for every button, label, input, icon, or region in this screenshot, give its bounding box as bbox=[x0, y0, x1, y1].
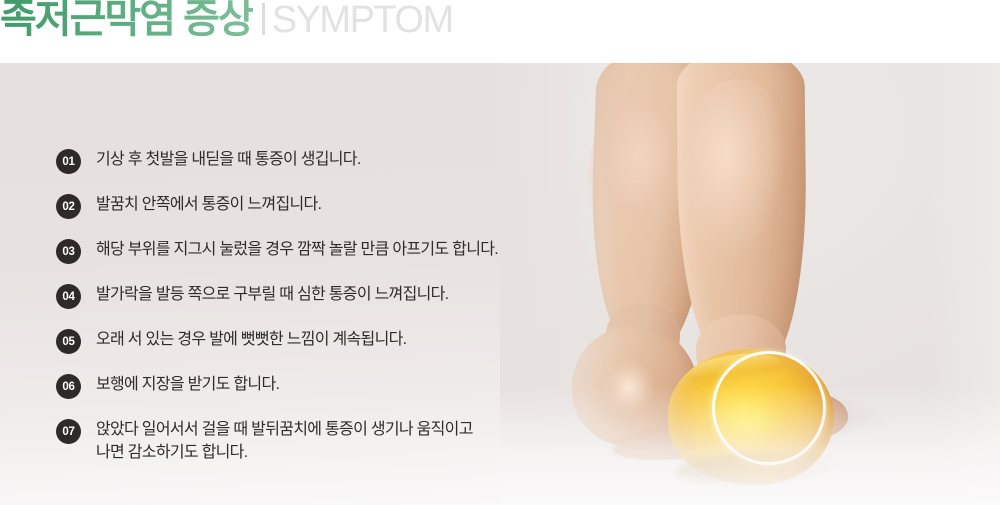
front-calf-highlight bbox=[676, 79, 800, 291]
header-title-group: 족저근막염 증상 SYMPTOM bbox=[0, 0, 453, 41]
list-item-number-badge: 05 bbox=[56, 329, 81, 354]
list-item-number-badge: 07 bbox=[56, 419, 81, 444]
title-separator-icon bbox=[262, 3, 265, 35]
list-item-text: 기상 후 첫발을 내딛을 때 통증이 생깁니다. bbox=[96, 148, 361, 171]
list-item: 01 기상 후 첫발을 내딛을 때 통증이 생깁니다. bbox=[56, 148, 556, 174]
list-item-text: 발가락을 발등 쪽으로 구부릴 때 심한 통증이 느껴집니다. bbox=[96, 283, 448, 306]
list-item: 06 보행에 지장을 받기도 합니다. bbox=[56, 373, 556, 399]
list-item-text: 오래 서 있는 경우 발에 뻣뻣한 느낌이 계속됩니다. bbox=[96, 328, 406, 351]
list-item-text: 해당 부위를 지그시 눌렀을 경우 깜짝 놀랄 만큼 아프기도 합니다. bbox=[96, 238, 498, 261]
list-item-number-badge: 06 bbox=[56, 374, 81, 399]
list-item: 07 앉았다 일어서서 걸을 때 발뒤꿈치에 통증이 생기나 움직이고 나면 감… bbox=[56, 418, 556, 464]
list-item-number-badge: 04 bbox=[56, 284, 81, 309]
list-item: 04 발가락을 발등 쪽으로 구부릴 때 심한 통증이 느껴집니다. bbox=[56, 283, 556, 309]
page-header: 족저근막염 증상 SYMPTOM bbox=[0, 0, 1000, 63]
list-item-number-badge: 02 bbox=[56, 194, 81, 219]
symptom-list: 01 기상 후 첫발을 내딛을 때 통증이 생깁니다. 02 발꿈치 안쪽에서 … bbox=[56, 148, 556, 483]
page-root: 족저근막염 증상 SYMPTOM bbox=[0, 0, 1000, 505]
list-item-text: 앉았다 일어서서 걸을 때 발뒤꿈치에 통증이 생기나 움직이고 나면 감소하기… bbox=[96, 418, 473, 464]
list-item-number-badge: 01 bbox=[56, 149, 81, 174]
list-item-number-badge: 03 bbox=[56, 239, 81, 264]
list-item: 03 해당 부위를 지그시 눌렀을 경우 깜짝 놀랄 만큼 아프기도 합니다. bbox=[56, 238, 556, 264]
content-panel: 01 기상 후 첫발을 내딛을 때 통증이 생깁니다. 02 발꿈치 안쪽에서 … bbox=[0, 63, 1000, 505]
list-item: 02 발꿈치 안쪽에서 통증이 느껴집니다. bbox=[56, 193, 556, 219]
photo-fade-bottom bbox=[500, 385, 1000, 505]
page-title-english: SYMPTOM bbox=[272, 1, 453, 41]
page-title-korean: 족저근막염 증상 bbox=[0, 0, 253, 40]
list-item-text: 보행에 지장을 받기도 합니다. bbox=[96, 373, 279, 396]
list-item: 05 오래 서 있는 경우 발에 뻣뻣한 느낌이 계속됩니다. bbox=[56, 328, 556, 354]
feet-photo bbox=[500, 63, 1000, 505]
list-item-text: 발꿈치 안쪽에서 통증이 느껴집니다. bbox=[96, 193, 321, 216]
